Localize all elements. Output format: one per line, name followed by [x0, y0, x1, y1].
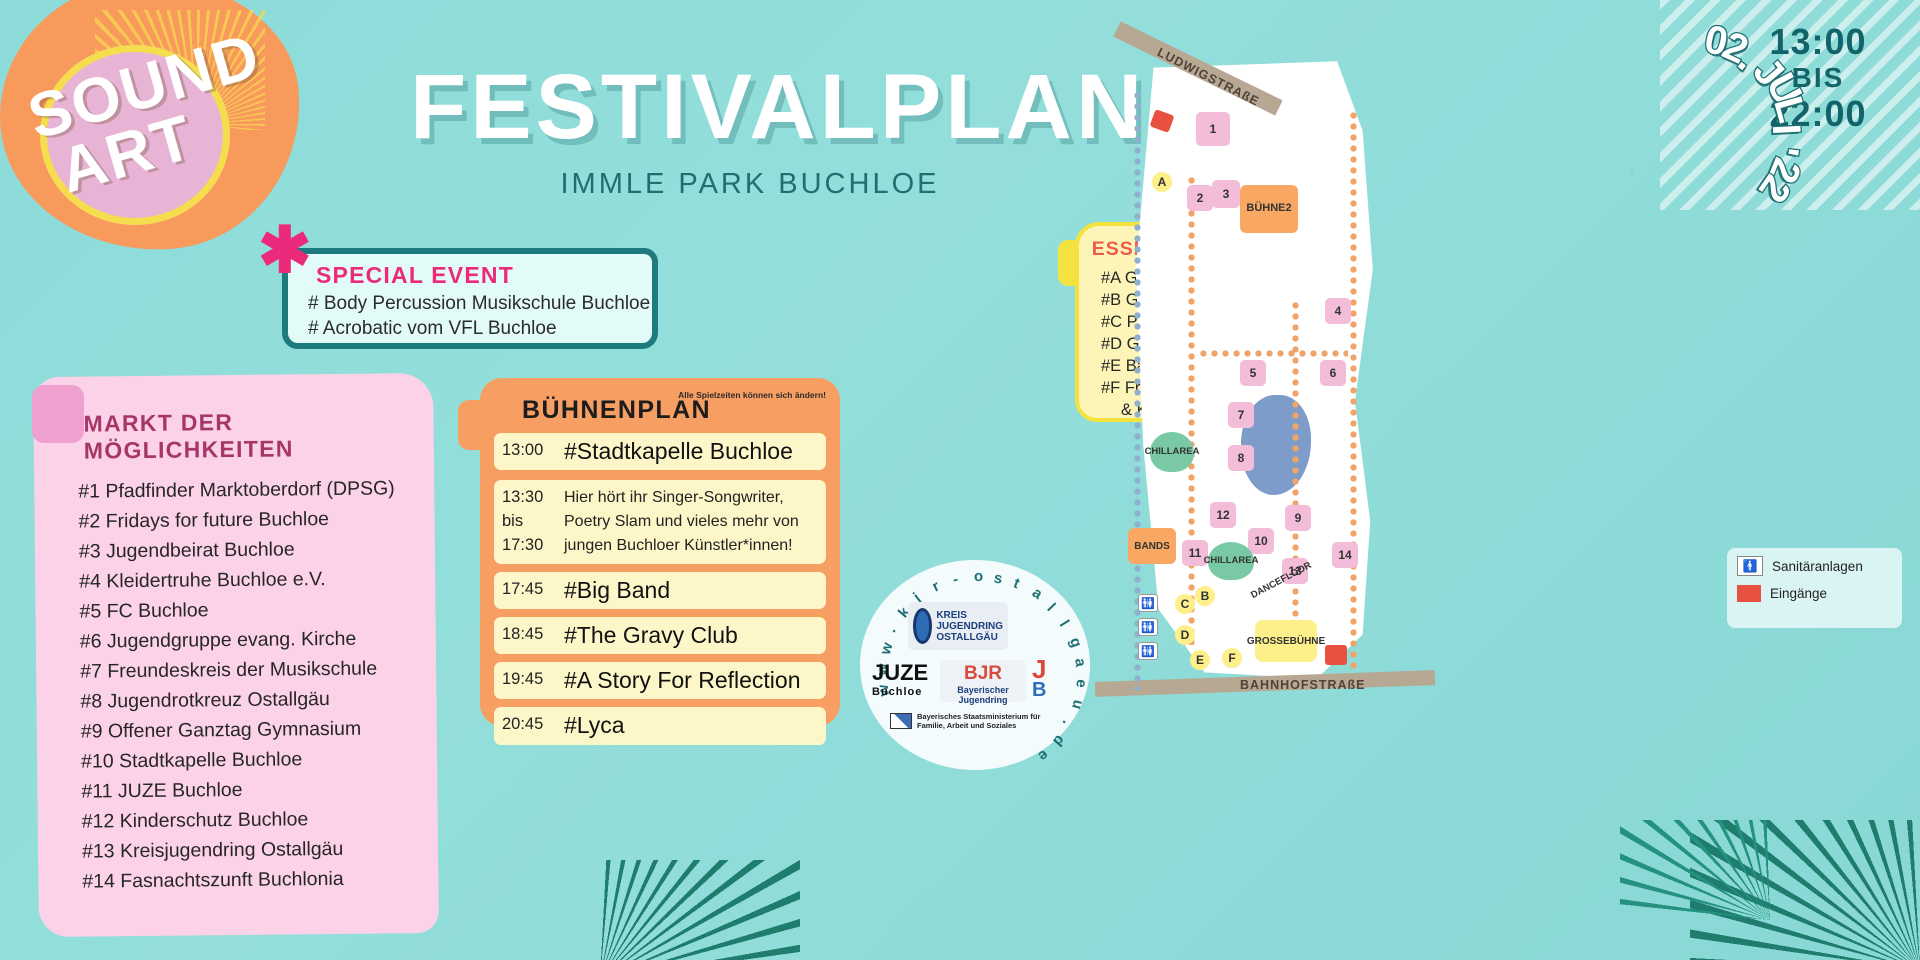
kjr-line-2: JUGENDRING [936, 621, 1003, 632]
map-restroom-3: 🚻 [1138, 642, 1158, 660]
block-time-to: 17:30 [502, 534, 552, 556]
special-event-item: # Acrobatic vom VFL Buchloe [308, 318, 652, 340]
act-name: #Stadtkapelle Buchloe [564, 439, 793, 464]
map-plot-3: 3 [1212, 180, 1240, 208]
bavaria-crest-icon [890, 713, 912, 729]
block-line: Poetry Slam und vieles mehr von [564, 511, 799, 533]
block-time-word: bis [502, 510, 552, 532]
map-plot-12: 12 [1210, 502, 1236, 528]
map-plot-1: 1 [1196, 112, 1230, 146]
juze-subtitle: Buchloe [872, 686, 928, 698]
festival-date: 02.JULI'22 [1580, 12, 1790, 212]
url-char: r [930, 578, 943, 596]
url-char: d [1049, 732, 1068, 750]
url-char: g [1066, 635, 1085, 649]
stage-plan-heading: BÜHNENPLAN [522, 396, 840, 425]
asterisk-icon: ✱ [258, 228, 304, 274]
map-plot-14: 14 [1332, 542, 1358, 568]
url-char: w [877, 641, 897, 657]
stage-act-row: 19:45 #A Story For Reflection [494, 662, 826, 699]
map-grosse-buehne: GROSSEBÜHNE [1255, 620, 1317, 662]
stage-act-row: 18:45 #The Gravy Club [494, 617, 826, 654]
map-plot-8: 8 [1228, 445, 1254, 471]
markt-der-moeglichkeiten-box: MARKT DER MÖGLICHKEITEN #1 Pfadfinder Ma… [33, 373, 439, 937]
entrance-icon [1737, 585, 1761, 602]
map-food-plot-F: F [1222, 648, 1242, 668]
list-item: #6 Jugendgruppe evang. Kirche [80, 627, 436, 654]
block-line: jungen Buchloer Künstler*innen! [564, 535, 793, 557]
map-restroom-2: 🚻 [1138, 618, 1158, 636]
date-char: I [1763, 123, 1809, 136]
path-right [1348, 110, 1360, 670]
map-plot-7: 7 [1228, 402, 1254, 428]
map-legend: 🚹 Sanitäranlagen Eingänge [1727, 548, 1902, 628]
map-food-plot-A: A [1152, 172, 1172, 192]
map-food-plot-B: B [1195, 586, 1215, 606]
stage-open-block: 13:30 Hier hört ihr Singer-Songwriter, b… [494, 480, 826, 563]
map-food-plot-D: D [1175, 625, 1195, 645]
bjr-subtitle-1: Bayerischer [940, 685, 1026, 695]
list-item: #11 JUZE Buchloe [81, 777, 437, 804]
act-time: 18:45 [502, 623, 552, 645]
url-char: l [1056, 617, 1073, 630]
stage-act-row: 13:00 #Stadtkapelle Buchloe [494, 433, 826, 470]
road-label-bahnhofstrasse: BAHNHOFSTRAßE [1240, 678, 1366, 692]
url-char: s [993, 569, 1004, 587]
list-item: #7 Freundeskreis der Musikschule [80, 657, 436, 684]
map-plot-6: 6 [1320, 360, 1346, 386]
map-chill-area-1: CHILLAREA [1150, 432, 1194, 472]
kjr-line-1: KREIS [936, 610, 1003, 621]
list-item: #4 Kleidertruhe Buchloe e.V. [79, 567, 435, 594]
list-item: #12 Kinderschutz Buchloe [82, 807, 438, 834]
url-char: - [951, 571, 960, 589]
list-item: #5 FC Buchloe [79, 597, 435, 624]
url-char: e [1034, 746, 1051, 765]
globe-icon [913, 608, 932, 644]
url-char: o [973, 568, 983, 585]
act-time: 20:45 [502, 713, 552, 735]
ministry-line-2: Familie, Arbeit und Soziales [917, 721, 1040, 730]
ministry-logo: Bayerisches Staatsministerium für Famili… [890, 712, 1065, 730]
list-item: #14 Fasnachtszunft Buchlonia [82, 867, 438, 894]
kjr-logo: KREIS JUGENDRING OSTALLGÄU [908, 602, 1008, 650]
list-item: #13 Kreisjugendring Ostallgäu [82, 837, 438, 864]
map-bands-area: BANDS [1128, 528, 1176, 564]
map-chill-area-2: CHILLAREA [1208, 542, 1254, 580]
act-name: #Lyca [564, 713, 625, 738]
map-plot-10: 10 [1248, 528, 1274, 554]
url-char: a [1071, 657, 1089, 668]
map-plot-2: 2 [1187, 185, 1213, 211]
block-line: Hier hört ihr Singer-Songwriter, [564, 487, 784, 509]
stage-plan-note: Alle Spielzeiten können sich ändern! [678, 390, 826, 400]
act-name: #A Story For Reflection [564, 668, 801, 693]
legend-row-restrooms: 🚹 Sanitäranlagen [1737, 556, 1892, 576]
act-time: 13:00 [502, 439, 552, 461]
special-event-box: SPECIAL EVENT # Body Percussion Musiksch… [282, 248, 658, 349]
act-time: 19:45 [502, 668, 552, 690]
palm-leaf-icon [1620, 820, 1770, 920]
jb-logo: J B [1032, 658, 1046, 699]
jb-letter-2: B [1032, 681, 1046, 699]
map-food-plot-C: C [1175, 594, 1195, 614]
legend-label: Eingänge [1770, 586, 1827, 601]
bjr-name: BJR [940, 663, 1026, 685]
special-event-heading: SPECIAL EVENT [316, 262, 652, 289]
list-item: #2 Fridays for future Buchloe [78, 507, 434, 534]
special-event-item: # Body Percussion Musikschule Buchloe [308, 293, 652, 315]
list-item: #9 Offener Ganztag Gymnasium [81, 717, 437, 744]
stage-act-row: 20:45 #Lyca [494, 707, 826, 744]
map-plot-4: 4 [1325, 298, 1351, 324]
markt-heading: MARKT DER MÖGLICHKEITEN [83, 407, 434, 465]
url-char: l [1043, 600, 1058, 615]
festival-logo: SOUND ART [20, 40, 260, 220]
juze-logo: JUZE Buchloe [872, 660, 928, 698]
block-time-from: 13:30 [502, 486, 552, 508]
list-item: #8 Jugendrotkreuz Ostallgäu [80, 687, 436, 714]
restroom-icon: 🚹 [1737, 556, 1763, 576]
stage-act-list: 17:45 #Big Band 18:45 #The Gravy Club 19… [480, 572, 840, 745]
juze-name: JUZE [872, 660, 928, 685]
legend-label: Sanitäranlagen [1772, 559, 1863, 574]
legend-row-entrances: Eingänge [1737, 585, 1892, 602]
list-item: #10 Stadtkapelle Buchloe [81, 747, 437, 774]
path-middle [1186, 175, 1198, 645]
map-stage-buehne-2: BÜHNE2 [1240, 185, 1298, 233]
map-plot-5: 5 [1240, 360, 1266, 386]
palm-leaf-icon [600, 860, 800, 960]
list-item: #1 Pfadfinder Marktoberdorf (DPSG) [78, 477, 434, 504]
page-title: FESTIVALPLAN [410, 55, 1090, 160]
list-item: #3 Jugendbeirat Buchloe [79, 537, 435, 564]
url-char: . [882, 624, 899, 636]
url-char: t [1011, 575, 1022, 593]
stage-plan-box: Alle Spielzeiten können sich ändern! BÜH… [480, 378, 840, 726]
map-food-plot-E: E [1190, 650, 1210, 670]
map-restroom-1: 🚻 [1138, 594, 1158, 612]
ministry-line-1: Bayerisches Staatsministerium für [917, 712, 1040, 721]
markt-tab-decoration [32, 385, 84, 443]
map-entrance-bottom [1325, 645, 1347, 665]
act-name: #The Gravy Club [564, 623, 738, 648]
url-char: e [1072, 679, 1090, 689]
path-cross [1198, 348, 1348, 360]
map-plot-9: 9 [1285, 505, 1311, 531]
page-subtitle: IMMLE PARK BUCHLOE [410, 168, 1090, 201]
sponsor-badge: www.kjr-ostallgaeu.de KREIS JUGENDRING O… [860, 560, 1090, 770]
stage-act-row: 17:45 #Big Band [494, 572, 826, 609]
bjr-logo: BJR Bayerischer Jugendring [940, 660, 1026, 702]
act-name: #Big Band [564, 578, 670, 603]
url-char: a [1029, 584, 1045, 603]
act-time: 17:45 [502, 578, 552, 600]
bjr-subtitle-2: Jugendring [940, 695, 1026, 705]
kjr-line-3: OSTALLGÄU [936, 632, 1003, 643]
